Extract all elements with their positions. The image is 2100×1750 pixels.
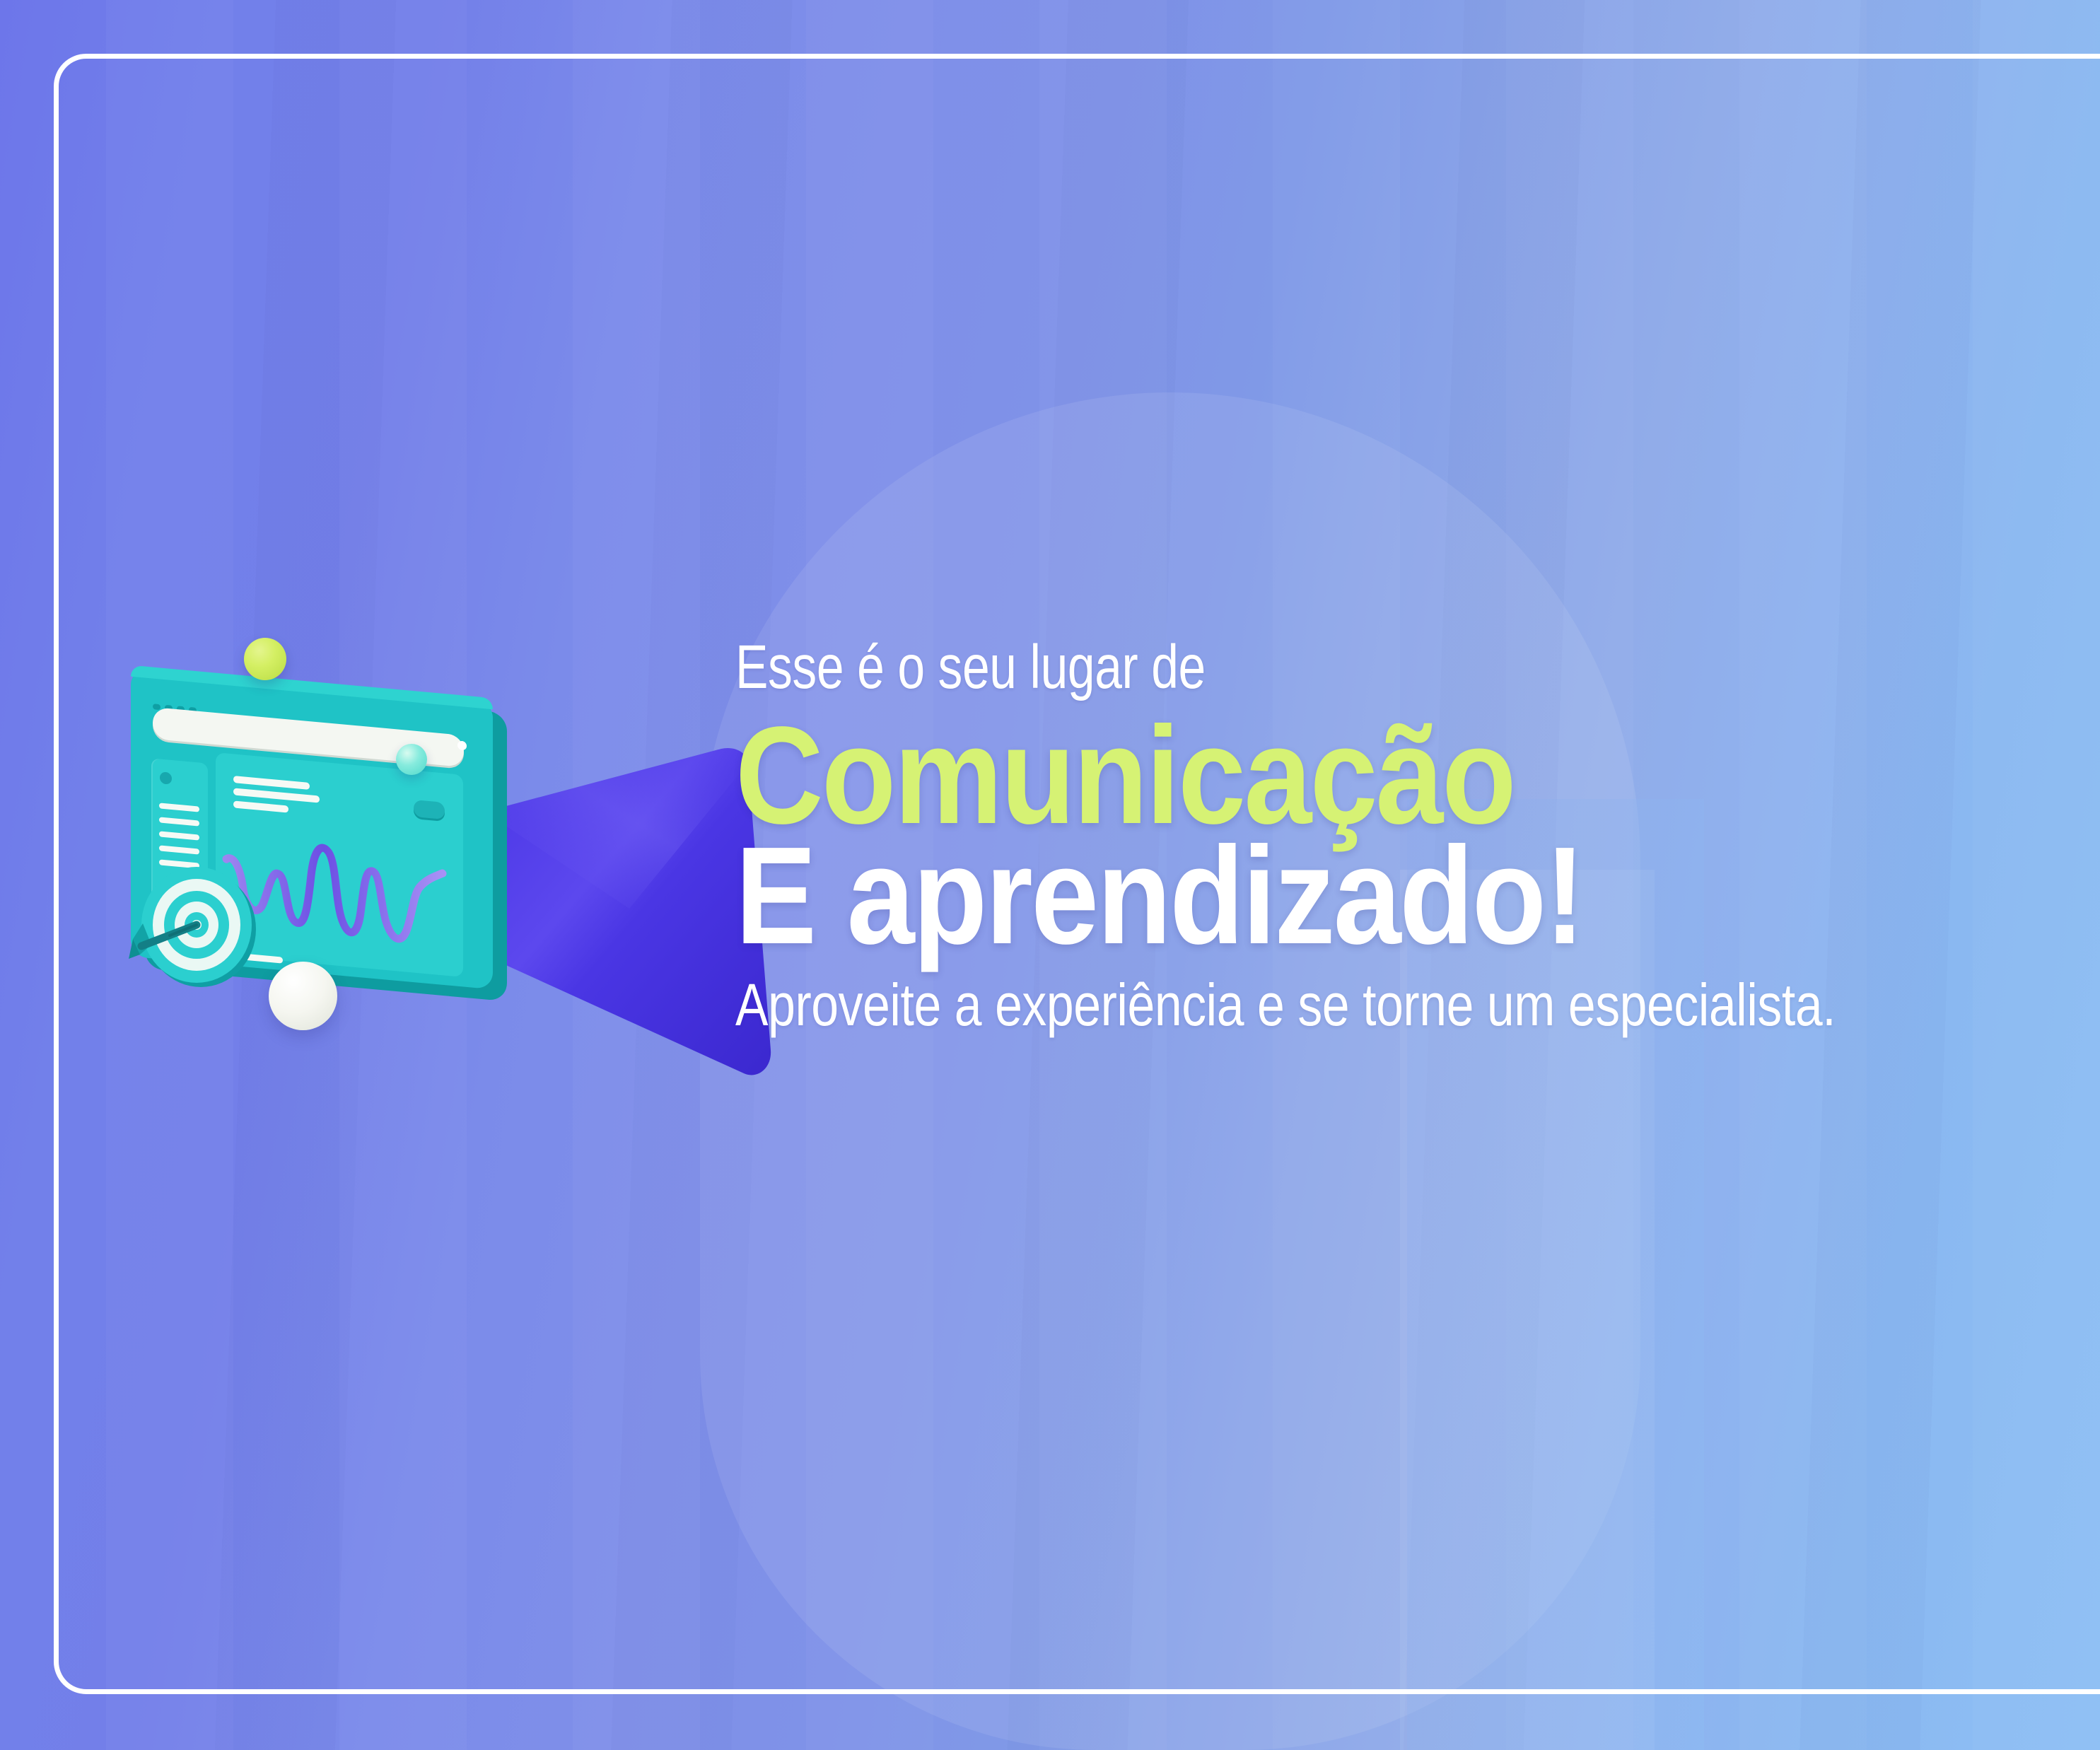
sphere-white-icon: [269, 962, 337, 1030]
address-bar-dot-icon: [457, 740, 467, 750]
target-dartboard-icon: [127, 856, 269, 997]
hero-illustration: [106, 622, 686, 1131]
sphere-green-icon: [244, 638, 286, 680]
eyebrow-text: Esse é o seu lugar de: [735, 636, 1855, 698]
content-badge: [414, 800, 445, 819]
banner-copy: Esse é o seu lugar de Comunicação E apre…: [735, 636, 2100, 1034]
sphere-teal-icon: [396, 744, 427, 775]
headline-main: E aprendizado!: [735, 828, 1967, 964]
subtitle-text: Aproveite a experiência e se torne um es…: [735, 975, 1897, 1034]
watermark-letter: [700, 392, 1640, 1750]
banner-canvas: Esse é o seu lugar de Comunicação E apre…: [0, 0, 2100, 1750]
